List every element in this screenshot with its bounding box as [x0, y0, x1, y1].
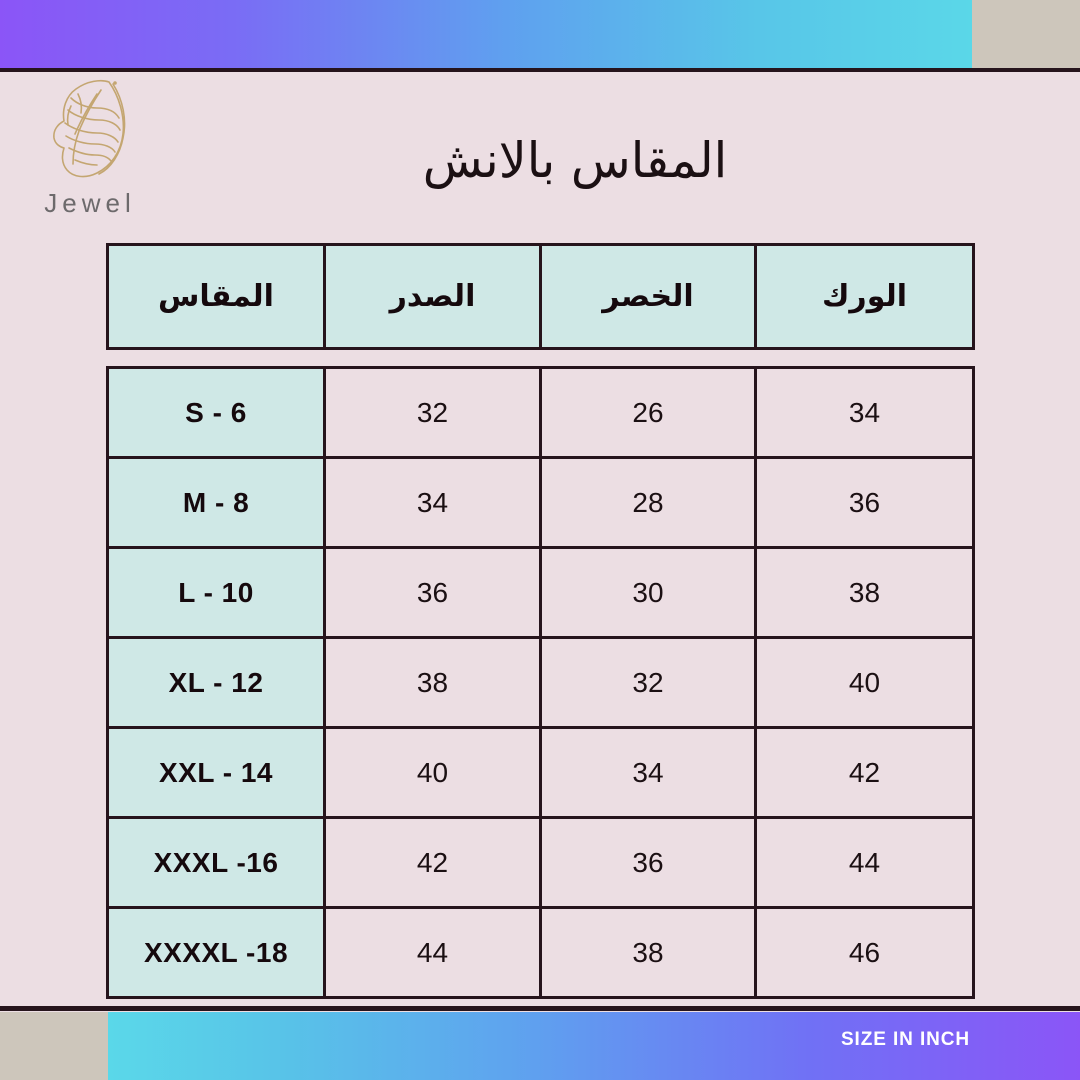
cell-size: M - 8 — [108, 458, 325, 548]
top-divider-rule — [0, 68, 1080, 72]
cell-chest: 44 — [325, 908, 541, 998]
cell-hip: 46 — [756, 908, 974, 998]
cell-chest: 38 — [325, 638, 541, 728]
cell-size: L - 10 — [108, 548, 325, 638]
table-row: XL - 12383240 — [108, 638, 974, 728]
cell-waist: 36 — [541, 818, 756, 908]
cell-waist: 30 — [541, 548, 756, 638]
cell-chest: 42 — [325, 818, 541, 908]
table-row: S - 6322634 — [108, 368, 974, 458]
cell-hip: 34 — [756, 368, 974, 458]
cell-waist: 32 — [541, 638, 756, 728]
table-row: XXXL -16423644 — [108, 818, 974, 908]
size-unit-label: SIZE IN INCH — [841, 1029, 970, 1051]
cell-hip: 38 — [756, 548, 974, 638]
cell-waist: 28 — [541, 458, 756, 548]
cell-hip: 44 — [756, 818, 974, 908]
cell-chest: 32 — [325, 368, 541, 458]
butterfly-wing-icon — [35, 76, 145, 180]
cell-hip: 42 — [756, 728, 974, 818]
size-table-body: S - 6322634M - 8342836L - 10363038XL - 1… — [106, 366, 975, 999]
cell-waist: 34 — [541, 728, 756, 818]
cell-size: S - 6 — [108, 368, 325, 458]
size-table-header: المقاس الصدر الخصر الورك — [106, 243, 975, 350]
brand-wordmark: Jewel — [30, 188, 150, 219]
size-chart-canvas: Jewel المقاس بالانش المقاس الصدر الخصر ا… — [0, 0, 1080, 1080]
cell-hip: 40 — [756, 638, 974, 728]
cell-hip: 36 — [756, 458, 974, 548]
table-header-row: المقاس الصدر الخصر الورك — [108, 245, 974, 349]
cell-size: XXXXL -18 — [108, 908, 325, 998]
table-row: XXL - 14403442 — [108, 728, 974, 818]
cell-chest: 36 — [325, 548, 541, 638]
column-header-size: المقاس — [108, 245, 325, 349]
bottom-divider-rule — [0, 1006, 1080, 1011]
brand-logo: Jewel — [30, 76, 150, 218]
cell-size: XL - 12 — [108, 638, 325, 728]
top-gradient-bar — [0, 0, 972, 68]
cell-size: XXL - 14 — [108, 728, 325, 818]
table-row: XXXXL -18443846 — [108, 908, 974, 998]
cell-chest: 40 — [325, 728, 541, 818]
cell-size: XXXL -16 — [108, 818, 325, 908]
column-header-hip: الورك — [756, 245, 974, 349]
cell-waist: 26 — [541, 368, 756, 458]
column-header-chest: الصدر — [325, 245, 541, 349]
table-row: M - 8342836 — [108, 458, 974, 548]
cell-chest: 34 — [325, 458, 541, 548]
table-row: L - 10363038 — [108, 548, 974, 638]
page-title: المقاس بالانش — [180, 132, 970, 189]
cell-waist: 38 — [541, 908, 756, 998]
column-header-waist: الخصر — [541, 245, 756, 349]
